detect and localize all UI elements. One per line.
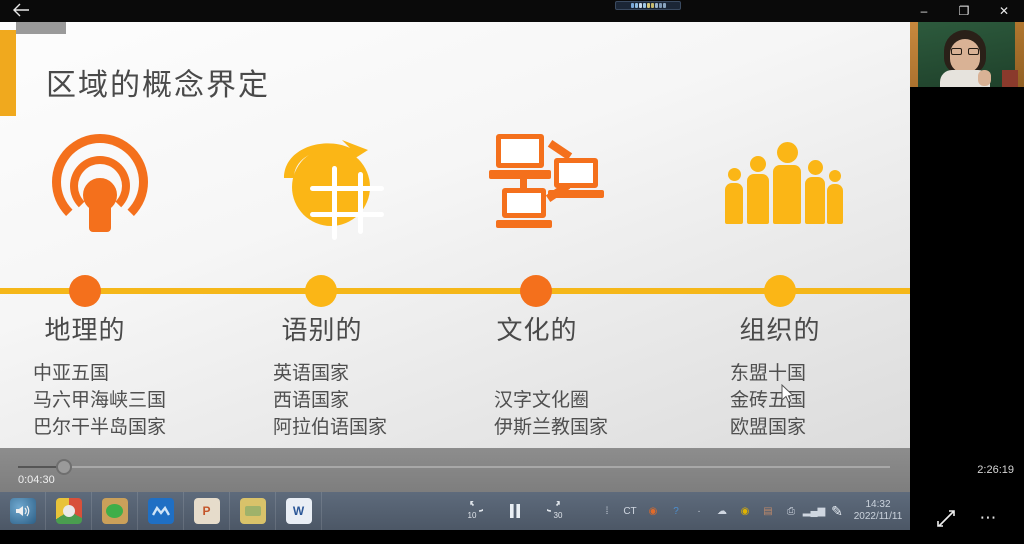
- timeline-dot: [305, 275, 337, 307]
- cloud-icon[interactable]: ☁: [714, 503, 730, 519]
- back-arrow-glyph: [12, 3, 30, 17]
- person-figure: [773, 142, 801, 224]
- detail-line: 英语国家: [273, 360, 493, 387]
- presentation-slide: 区域的概念界定: [0, 22, 910, 448]
- globe-rotation-arrow: [280, 138, 372, 184]
- globe-parallel: [310, 212, 384, 217]
- timeline-dot: [520, 275, 552, 307]
- category-labels-row: 地理的 语别的 文化的 组织的: [0, 310, 910, 356]
- timeline-dot: [69, 275, 101, 307]
- screen-letterbox: [0, 530, 1024, 544]
- taskbar-item-wechat[interactable]: [92, 492, 138, 530]
- category-label-linguistic: 语别的: [222, 310, 422, 347]
- detail-line: 西语国家: [273, 387, 493, 414]
- printer-icon[interactable]: ⎙: [783, 503, 799, 519]
- close-button[interactable]: ✕: [984, 0, 1024, 22]
- laptop-icon: [554, 158, 604, 198]
- dot-icon[interactable]: ·: [691, 503, 707, 519]
- globe-parallel: [310, 186, 384, 191]
- window-controls: – ❐ ✕: [904, 0, 1024, 22]
- taskbar-item-word[interactable]: W: [276, 492, 322, 530]
- player-right-panel: 2:26:19: [910, 448, 1024, 492]
- taskbar-apps: P W: [0, 492, 322, 530]
- category-label-cultural: 文化的: [437, 310, 637, 347]
- progress-handle[interactable]: [56, 459, 72, 475]
- detail-line: 阿拉伯语国家: [273, 414, 493, 441]
- mini-toolbar-dot: [659, 3, 662, 8]
- detail-line: 欧盟国家: [730, 414, 910, 441]
- network-signal-icon[interactable]: ▂▄▆: [806, 503, 822, 519]
- page-title: 区域的概念界定: [46, 60, 270, 104]
- signal-broadcast-icon: [0, 122, 200, 242]
- signal-broadcast-glyph: [50, 132, 150, 232]
- timeline-dot: [764, 275, 796, 307]
- total-time-label: 2:26:19: [977, 464, 1014, 476]
- presenter-face: [950, 39, 980, 73]
- svg-text:30: 30: [554, 511, 563, 520]
- people-group-glyph: [725, 140, 843, 224]
- window-topbar: [0, 0, 1024, 22]
- forward-glyph: 30: [547, 501, 569, 521]
- detail-column-geographic: 中亚五国 马六甲海峡三国 巴尔干半岛国家: [33, 360, 253, 441]
- mini-toolbar-dot: [647, 3, 650, 8]
- m-glyph: [152, 505, 170, 517]
- icons-row: [0, 122, 910, 252]
- wechat-icon: [102, 498, 128, 524]
- people-group-icon: [684, 122, 884, 242]
- fullscreen-icon[interactable]: [936, 508, 956, 528]
- detail-column-cultural: 汉字文化圈 伊斯兰教国家: [494, 387, 714, 441]
- detail-line: 马六甲海峡三国: [33, 387, 253, 414]
- folder-icon[interactable]: ▤: [760, 503, 776, 519]
- ctrl-indicator-icon[interactable]: CT: [622, 503, 638, 519]
- detail-line: 汉字文化圈: [494, 387, 714, 414]
- sogou-input-icon[interactable]: ◉: [645, 503, 661, 519]
- minimize-button[interactable]: –: [904, 0, 944, 22]
- signal-stem: [89, 192, 111, 232]
- current-time-label: 0:04:30: [18, 474, 55, 486]
- mini-toolbar-dot: [651, 3, 654, 8]
- taskbar-item-powerpoint[interactable]: P: [184, 492, 230, 530]
- clock-time: 14:32: [852, 499, 904, 511]
- detail-line: 巴尔干半岛国家: [33, 414, 253, 441]
- rewind-10-icon[interactable]: 10: [455, 492, 489, 530]
- video-player-bar: 0:04:30: [0, 448, 910, 492]
- laptop-icon: [496, 134, 551, 179]
- detail-line: 伊斯兰教国家: [494, 414, 714, 441]
- help-icon[interactable]: ?: [668, 503, 684, 519]
- taskbar-clock[interactable]: 14:32 2022/11/11: [852, 499, 904, 523]
- network-computers-icon: [456, 122, 656, 242]
- taskbar-item-browser[interactable]: [46, 492, 92, 530]
- presenter-glasses-icon: [951, 48, 979, 55]
- app-m-icon: [148, 498, 174, 524]
- tray-expand-icon[interactable]: ⁞: [599, 503, 615, 519]
- mini-toolbar-dot: [663, 3, 666, 8]
- more-options-icon[interactable]: ⋯: [980, 508, 999, 528]
- globe-arrow-glyph: [276, 132, 380, 232]
- pen-icon[interactable]: ✎: [829, 503, 845, 519]
- globe-arrow-icon: [228, 122, 428, 242]
- laptop-icon: [502, 188, 552, 228]
- category-details-row: 中亚五国 马六甲海峡三国 巴尔干半岛国家 英语国家 西语国家 阿拉伯语国家 汉字…: [0, 360, 910, 448]
- detail-column-linguistic: 英语国家 西语国家 阿拉伯语国家: [273, 360, 493, 441]
- speaker-volume-icon: [10, 498, 36, 524]
- floating-mini-toolbar[interactable]: [615, 1, 681, 10]
- clock-date: 2022/11/11: [852, 511, 904, 523]
- svg-text:10: 10: [468, 511, 477, 520]
- taskbar-item-app-yellow[interactable]: [230, 492, 276, 530]
- taskbar-item-speaker[interactable]: [0, 492, 46, 530]
- back-arrow-icon[interactable]: [10, 3, 32, 21]
- title-grey-marker: [16, 22, 66, 34]
- person-figure: [827, 170, 843, 224]
- mini-toolbar-dot: [643, 3, 646, 8]
- category-label-geographic: 地理的: [0, 310, 185, 347]
- media-controls: 10 30: [455, 492, 575, 530]
- speaker-glyph: [15, 504, 31, 518]
- pause-button[interactable]: [498, 492, 532, 530]
- forward-30-icon[interactable]: 30: [541, 492, 575, 530]
- app-yellow-icon: [240, 498, 266, 524]
- maximize-button[interactable]: ❐: [944, 0, 984, 22]
- fullscreen-glyph: [936, 508, 956, 528]
- detail-line: 金砖五国: [730, 387, 910, 414]
- progress-track: [18, 466, 890, 468]
- detail-line: 东盟十国: [730, 360, 910, 387]
- app-root: – ❐ ✕ 区域的概念界定: [0, 0, 1024, 544]
- detail-column-organizational: 东盟十国 金砖五国 欧盟国家: [730, 360, 910, 441]
- security-shield-icon[interactable]: ◉: [737, 503, 753, 519]
- taskbar-item-app-m[interactable]: [138, 492, 184, 530]
- system-tray: ⁞ CT ◉ ? · ☁ ◉ ▤ ⎙ ▂▄▆ ✎ 14:32 2022/11/1…: [599, 492, 910, 530]
- mini-toolbar-dot: [635, 3, 638, 8]
- pause-icon: [508, 503, 522, 519]
- webcam-letterbox: [910, 87, 1024, 96]
- person-figure: [747, 156, 769, 224]
- mini-toolbar-dot: [631, 3, 634, 8]
- presenter-hand: [978, 70, 991, 86]
- person-figure: [725, 168, 743, 224]
- windows-taskbar: P W 10: [0, 492, 910, 530]
- detail-line: 中亚五国: [33, 360, 253, 387]
- timeline-track: [0, 288, 910, 294]
- category-label-organizational: 组织的: [680, 310, 880, 347]
- title-accent-bar: [0, 30, 16, 116]
- mini-toolbar-dot: [639, 3, 642, 8]
- rewind-glyph: 10: [461, 501, 483, 521]
- mini-toolbar-dot: [655, 3, 658, 8]
- network-computers-glyph: [496, 132, 616, 232]
- progress-bar[interactable]: [18, 464, 890, 470]
- presenter-webcam-feed[interactable]: [910, 18, 1024, 96]
- powerpoint-icon: P: [194, 498, 220, 524]
- browser-chrome-icon: [56, 498, 82, 524]
- person-figure: [805, 160, 825, 224]
- word-icon: W: [286, 498, 312, 524]
